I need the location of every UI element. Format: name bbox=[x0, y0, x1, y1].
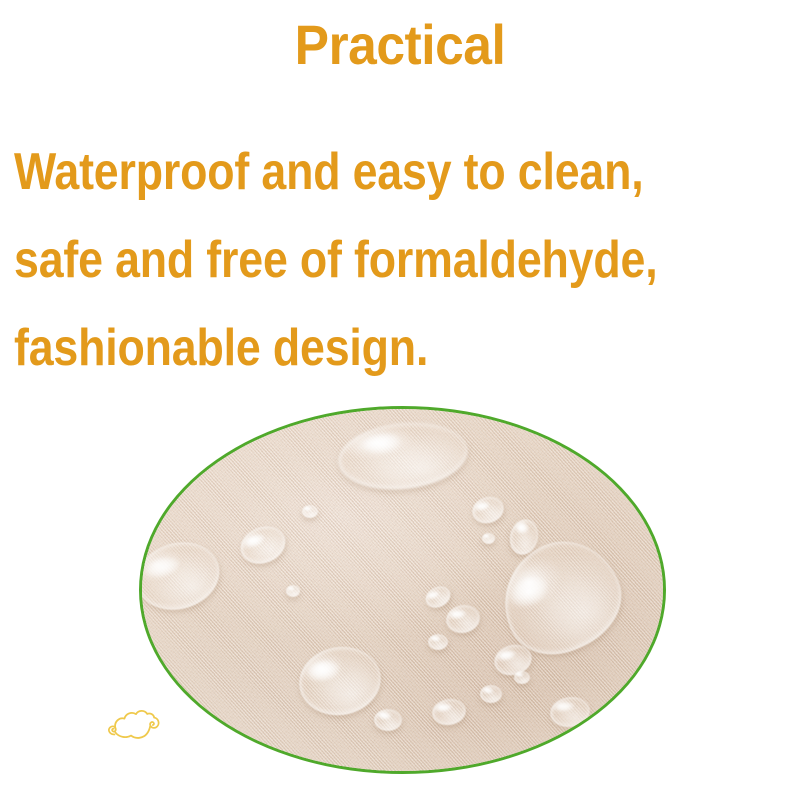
photo-edge-blur bbox=[139, 406, 666, 774]
feature-description: Waterproof and easy to clean, safe and f… bbox=[14, 128, 800, 392]
page-title: Practical bbox=[32, 14, 768, 76]
description-line-3: fashionable design. bbox=[14, 304, 690, 392]
description-line-1: Waterproof and easy to clean, bbox=[14, 128, 690, 216]
product-photo bbox=[139, 406, 666, 774]
promo-slide: Practical Waterproof and easy to clean, … bbox=[0, 0, 800, 800]
cloud-icon bbox=[105, 701, 161, 745]
description-line-2: safe and free of formaldehyde, bbox=[14, 216, 690, 304]
photo-ellipse-frame bbox=[139, 406, 666, 774]
